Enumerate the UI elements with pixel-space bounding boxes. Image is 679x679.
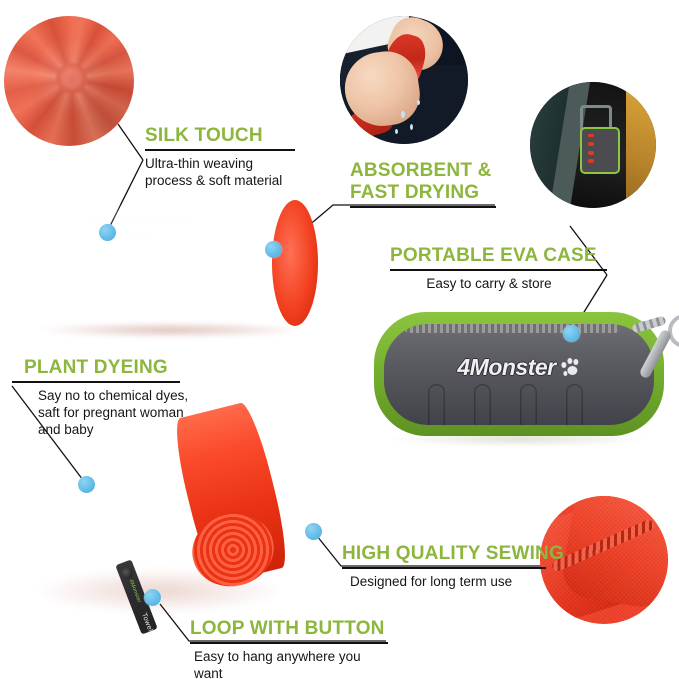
callout-plant-dyeing: PLANT DYEING Say no to chemical dyes, sa…: [24, 357, 194, 438]
callout-description: Ultra-thin weaving process & soft materi…: [145, 155, 295, 189]
callout-heading: HIGH QUALITY SEWING: [342, 543, 546, 565]
hand-wringing-towel-photo: [340, 16, 468, 144]
callout-silk-touch: SILK TOUCH Ultra-thin weaving process & …: [145, 125, 295, 189]
rolled-towel-end: [272, 200, 318, 326]
photo-mini-eva-case: [580, 127, 619, 174]
marker-loop[interactable]: [144, 589, 161, 606]
eva-case-logo: 4Monster: [457, 354, 580, 381]
rolled-towel-highlight: [35, 208, 238, 238]
fabric-swirl-photo: [4, 16, 134, 146]
callout-high-quality-sewing: HIGH QUALITY SEWING Designed for long te…: [342, 543, 546, 590]
eva-case-slot: [428, 384, 445, 425]
callout-absorbent-fast-drying: ABSORBENT & FAST DRYING: [350, 160, 496, 208]
infographic-canvas: 4Monster Towel 4Monster: [0, 0, 679, 679]
rolled-towel-shadow: [38, 322, 305, 338]
eva-case-slot: [474, 384, 491, 425]
water-drop-icon: [395, 129, 398, 134]
carabiner-clip-icon: [638, 328, 672, 379]
leader-line-silk-touch: [118, 124, 143, 160]
callout-heading: ABSORBENT & FAST DRYING: [350, 160, 496, 204]
keychain-attachment: [628, 306, 679, 396]
callout-underline: [390, 269, 607, 271]
callout-portable-eva-case: PORTABLE EVA CASE Easy to carry & store: [390, 245, 588, 292]
callout-description: Designed for long term use: [350, 573, 546, 590]
callout-underline: [145, 149, 295, 151]
callout-heading: PORTABLE EVA CASE: [390, 245, 588, 267]
callout-description: Easy to carry & store: [390, 275, 588, 292]
tag-brand-label: 4Monster: [127, 579, 141, 604]
marker-sewing[interactable]: [305, 523, 322, 540]
callout-description: Say no to chemical dyes, saft for pregna…: [38, 387, 194, 438]
paw-print-icon: [561, 358, 581, 378]
marker-silk-touch[interactable]: [99, 224, 116, 241]
marker-plant-dyeing[interactable]: [78, 476, 95, 493]
callout-heading: PLANT DYEING: [24, 357, 194, 379]
callout-description: Easy to hang anywhere you want: [194, 648, 388, 679]
callout-underline: [342, 567, 546, 569]
callout-loop-with-button: LOOP WITH BUTTON Easy to hang anywhere y…: [190, 618, 388, 679]
eva-case-product: 4Monster: [374, 312, 664, 436]
brand-name-label: 4Monster: [457, 354, 555, 381]
key-ring-icon: [668, 314, 679, 348]
case-on-backpack-photo: [530, 82, 656, 208]
callout-underline: [350, 206, 496, 208]
callout-heading: SILK TOUCH: [145, 125, 295, 147]
rolled-towel-product: [26, 200, 316, 326]
marker-eva-case[interactable]: [563, 325, 580, 342]
marker-absorbent[interactable]: [265, 241, 282, 258]
eva-case-shadow: [391, 432, 646, 446]
tag-word-label: Towel: [140, 612, 153, 633]
eva-case-slot: [566, 384, 583, 425]
callout-heading: LOOP WITH BUTTON: [190, 618, 388, 640]
eva-case-slot: [520, 384, 537, 425]
eva-case-face: 4Monster: [384, 324, 654, 425]
eva-case-zipper: [404, 324, 620, 333]
callout-underline: [12, 381, 180, 383]
callout-underline: [190, 642, 388, 644]
